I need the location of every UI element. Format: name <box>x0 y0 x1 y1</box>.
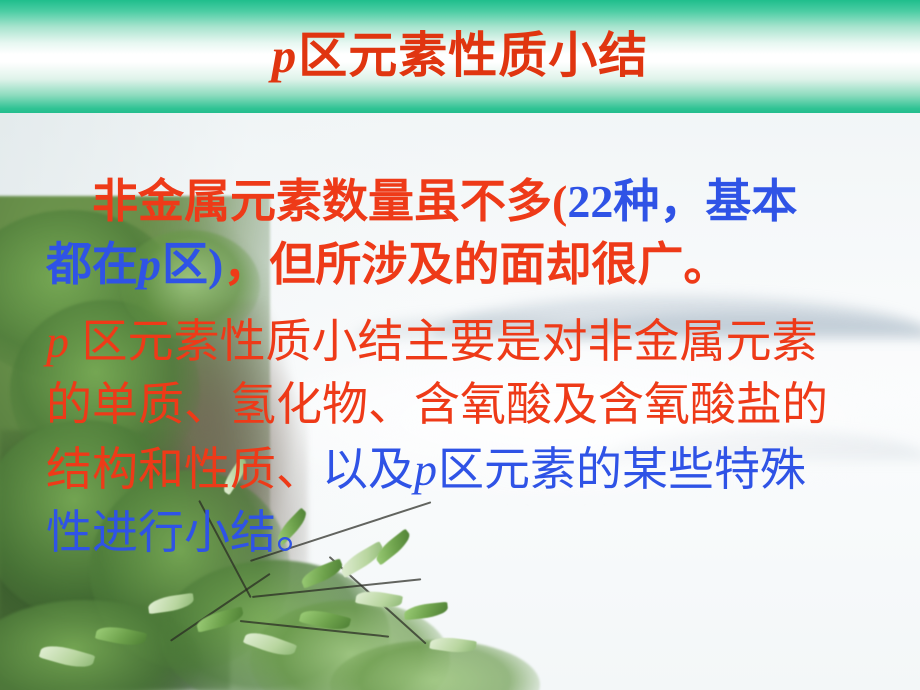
text-run: 22种，基本 <box>567 176 797 227</box>
text-run-italic-p: p <box>414 444 438 495</box>
slide-canvas: p区元素性质小结 非金属元素数量虽不多(22种，基本 都在p区)，但所涉及的面却… <box>0 0 920 690</box>
page-title: p区元素性质小结 <box>0 26 920 86</box>
text-run: 以及 <box>322 444 414 495</box>
text-run: 区元素性质小结主要是对非金属元素 <box>70 316 818 367</box>
text-line-5: 结构和性质、以及p区元素的某些特殊 <box>46 444 906 496</box>
text-run-italic-p: p <box>46 316 70 367</box>
text-line-1: 非金属元素数量虽不多(22种，基本 <box>92 176 920 228</box>
text-line-6: 性进行小结。 <box>46 507 906 559</box>
text-run: ，但所涉及的面却很广。 <box>223 239 729 290</box>
text-run: 区元素的某些特殊 <box>438 444 806 495</box>
text-run: 的单质、氢化物、含氧酸及含氧酸盐的 <box>46 379 828 430</box>
title-italic-p: p <box>272 28 299 83</box>
text-run: 结构和性质、 <box>46 444 322 495</box>
text-run: 都在 <box>46 239 138 290</box>
text-run: 区) <box>162 239 223 290</box>
text-run-italic-p: p <box>138 239 162 290</box>
title-banner: p区元素性质小结 <box>0 0 920 113</box>
text-run: 性进行小结。 <box>46 507 322 558</box>
text-line-3: p 区元素性质小结主要是对非金属元素 <box>46 316 906 368</box>
text-line-2: 都在p区)，但所涉及的面却很广。 <box>46 239 906 291</box>
title-rest: 区元素性质小结 <box>298 28 648 83</box>
text-run: 非金属元素数量虽不多( <box>92 176 567 227</box>
text-line-4: 的单质、氢化物、含氧酸及含氧酸盐的 <box>46 379 906 431</box>
